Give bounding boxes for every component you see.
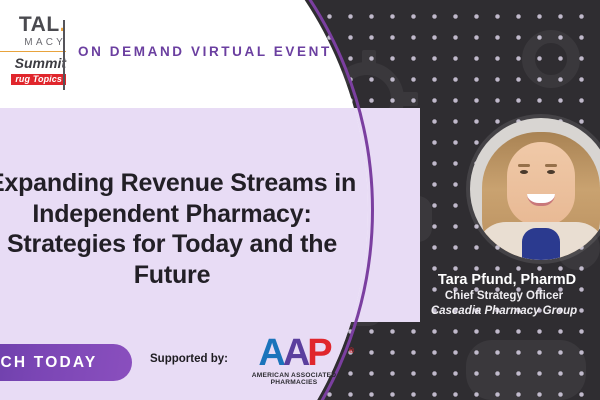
speaker-role: Chief Strategy Officer xyxy=(400,290,600,302)
avatar-brow-right xyxy=(545,164,557,167)
page-title: Expanding Revenue Streams in Independent… xyxy=(0,168,372,290)
avatar-face xyxy=(507,142,575,226)
avatar-brow-left xyxy=(518,164,530,167)
aap-sponsor-logo: AAP® AMERICAN ASSOCIATED PHARMACIES xyxy=(228,336,360,386)
aap-wordmark: AAP® xyxy=(228,336,360,370)
aap-subtitle: AMERICAN ASSOCIATED PHARMACIES xyxy=(228,372,360,386)
speaker-organization: Cascadia Pharmacy Group xyxy=(400,305,600,317)
event-type-kicker: ON DEMAND VIRTUAL EVENT xyxy=(78,44,332,59)
header-vertical-divider xyxy=(63,20,65,90)
watch-today-button[interactable]: WATCH TODAY xyxy=(0,344,132,381)
logo-drug-topics-badge: rug Topics xyxy=(11,74,66,85)
avatar-eye-left xyxy=(520,170,528,174)
speaker-name: Tara Pfund, PharmD xyxy=(400,272,600,288)
aap-letter-a2: A xyxy=(283,332,307,374)
registered-trademark-icon: ® xyxy=(349,335,354,369)
speaker-avatar xyxy=(470,118,600,260)
logo-summit-wordmark: Summit xyxy=(0,56,66,70)
logo-total-wordmark: TAL. xyxy=(0,14,66,35)
total-pharmacy-summit-logo: TAL. MACY Summit rug Topics xyxy=(0,14,66,94)
avatar-shirt xyxy=(522,228,560,260)
logo-pharmacy-wordmark: MACY xyxy=(0,38,66,52)
webinar-promo-banner: TAL. MACY Summit rug Topics ON DEMAND VI… xyxy=(0,0,600,400)
avatar-eye-right xyxy=(547,170,555,174)
aap-letter-p: P xyxy=(307,332,329,374)
supported-by-label: Supported by: xyxy=(150,353,228,365)
aap-letter-a1: A xyxy=(258,332,282,374)
